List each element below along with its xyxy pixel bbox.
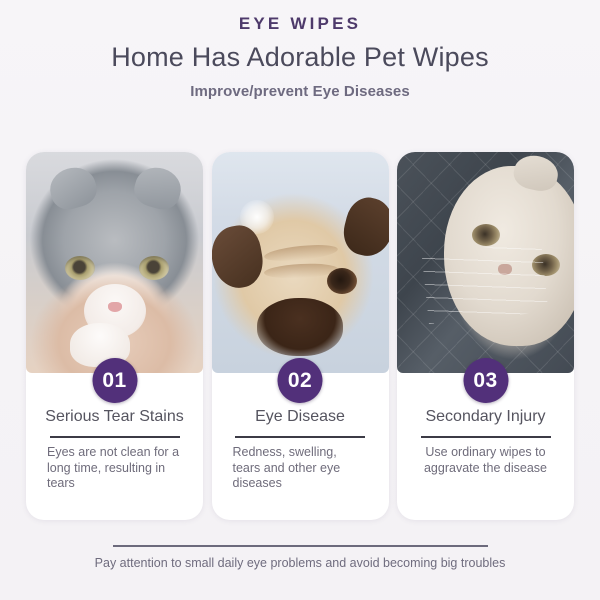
badge-number-03: 03 bbox=[463, 358, 508, 403]
badge-number-02: 02 bbox=[278, 358, 323, 403]
eyebrow-label: EYE WIPES bbox=[0, 13, 600, 34]
footer-text: Pay attention to small daily eye problem… bbox=[0, 555, 600, 571]
card-03-divider bbox=[421, 436, 551, 438]
pug-photo bbox=[212, 152, 389, 373]
cat-eye-right-shape bbox=[139, 256, 169, 280]
cat-photo bbox=[397, 152, 574, 373]
page-subtitle: Improve/prevent Eye Diseases bbox=[0, 82, 600, 102]
dog-wrinkle-upper-shape bbox=[263, 242, 338, 264]
dog-snout-shape bbox=[257, 298, 343, 356]
card-01[interactable]: 01 Serious Tear Stains Eyes are not clea… bbox=[26, 152, 203, 520]
card-03-body: Secondary Injury Use ordinary wipes to a… bbox=[397, 407, 574, 476]
footer: Pay attention to small daily eye problem… bbox=[0, 545, 600, 571]
cat-nose-shape bbox=[108, 302, 122, 312]
kitten-photo-art bbox=[26, 152, 203, 373]
infographic-page: EYE WIPES Home Has Adorable Pet Wipes Im… bbox=[0, 0, 600, 600]
cat-ear-right-shape bbox=[130, 162, 185, 213]
cat-ear-left-shape bbox=[45, 162, 100, 213]
footer-divider bbox=[113, 545, 488, 547]
cat-whiskers-shape bbox=[422, 242, 549, 324]
card-02-body: Eye Disease Redness, swelling, tears and… bbox=[212, 407, 389, 492]
card-01-description: Eyes are not clean for a long time, resu… bbox=[35, 445, 194, 492]
header: EYE WIPES Home Has Adorable Pet Wipes Im… bbox=[0, 0, 600, 102]
card-02-divider bbox=[235, 436, 365, 438]
card-03-description: Use ordinary wipes to aggravate the dise… bbox=[406, 445, 565, 476]
cat-photo-art bbox=[397, 152, 574, 373]
dog-eye-shape bbox=[327, 268, 357, 294]
cat-eye-left-shape bbox=[65, 256, 95, 280]
cat-eye-upper-shape bbox=[472, 224, 500, 246]
card-01-title: Serious Tear Stains bbox=[35, 407, 194, 427]
kitten-photo bbox=[26, 152, 203, 373]
card-01-divider bbox=[50, 436, 180, 438]
card-02[interactable]: 02 Eye Disease Redness, swelling, tears … bbox=[212, 152, 389, 520]
pug-photo-art bbox=[212, 152, 389, 373]
page-title: Home Has Adorable Pet Wipes bbox=[0, 40, 600, 74]
card-03[interactable]: 03 Secondary Injury Use ordinary wipes t… bbox=[397, 152, 574, 520]
benefit-cards-row: 01 Serious Tear Stains Eyes are not clea… bbox=[26, 152, 574, 520]
badge-number-01: 01 bbox=[92, 358, 137, 403]
card-03-title: Secondary Injury bbox=[406, 407, 565, 427]
dog-ear-right-shape bbox=[338, 193, 388, 261]
card-02-description: Redness, swelling, tears and other eye d… bbox=[221, 445, 380, 492]
card-01-body: Serious Tear Stains Eyes are not clean f… bbox=[26, 407, 203, 492]
card-02-title: Eye Disease bbox=[221, 407, 380, 427]
